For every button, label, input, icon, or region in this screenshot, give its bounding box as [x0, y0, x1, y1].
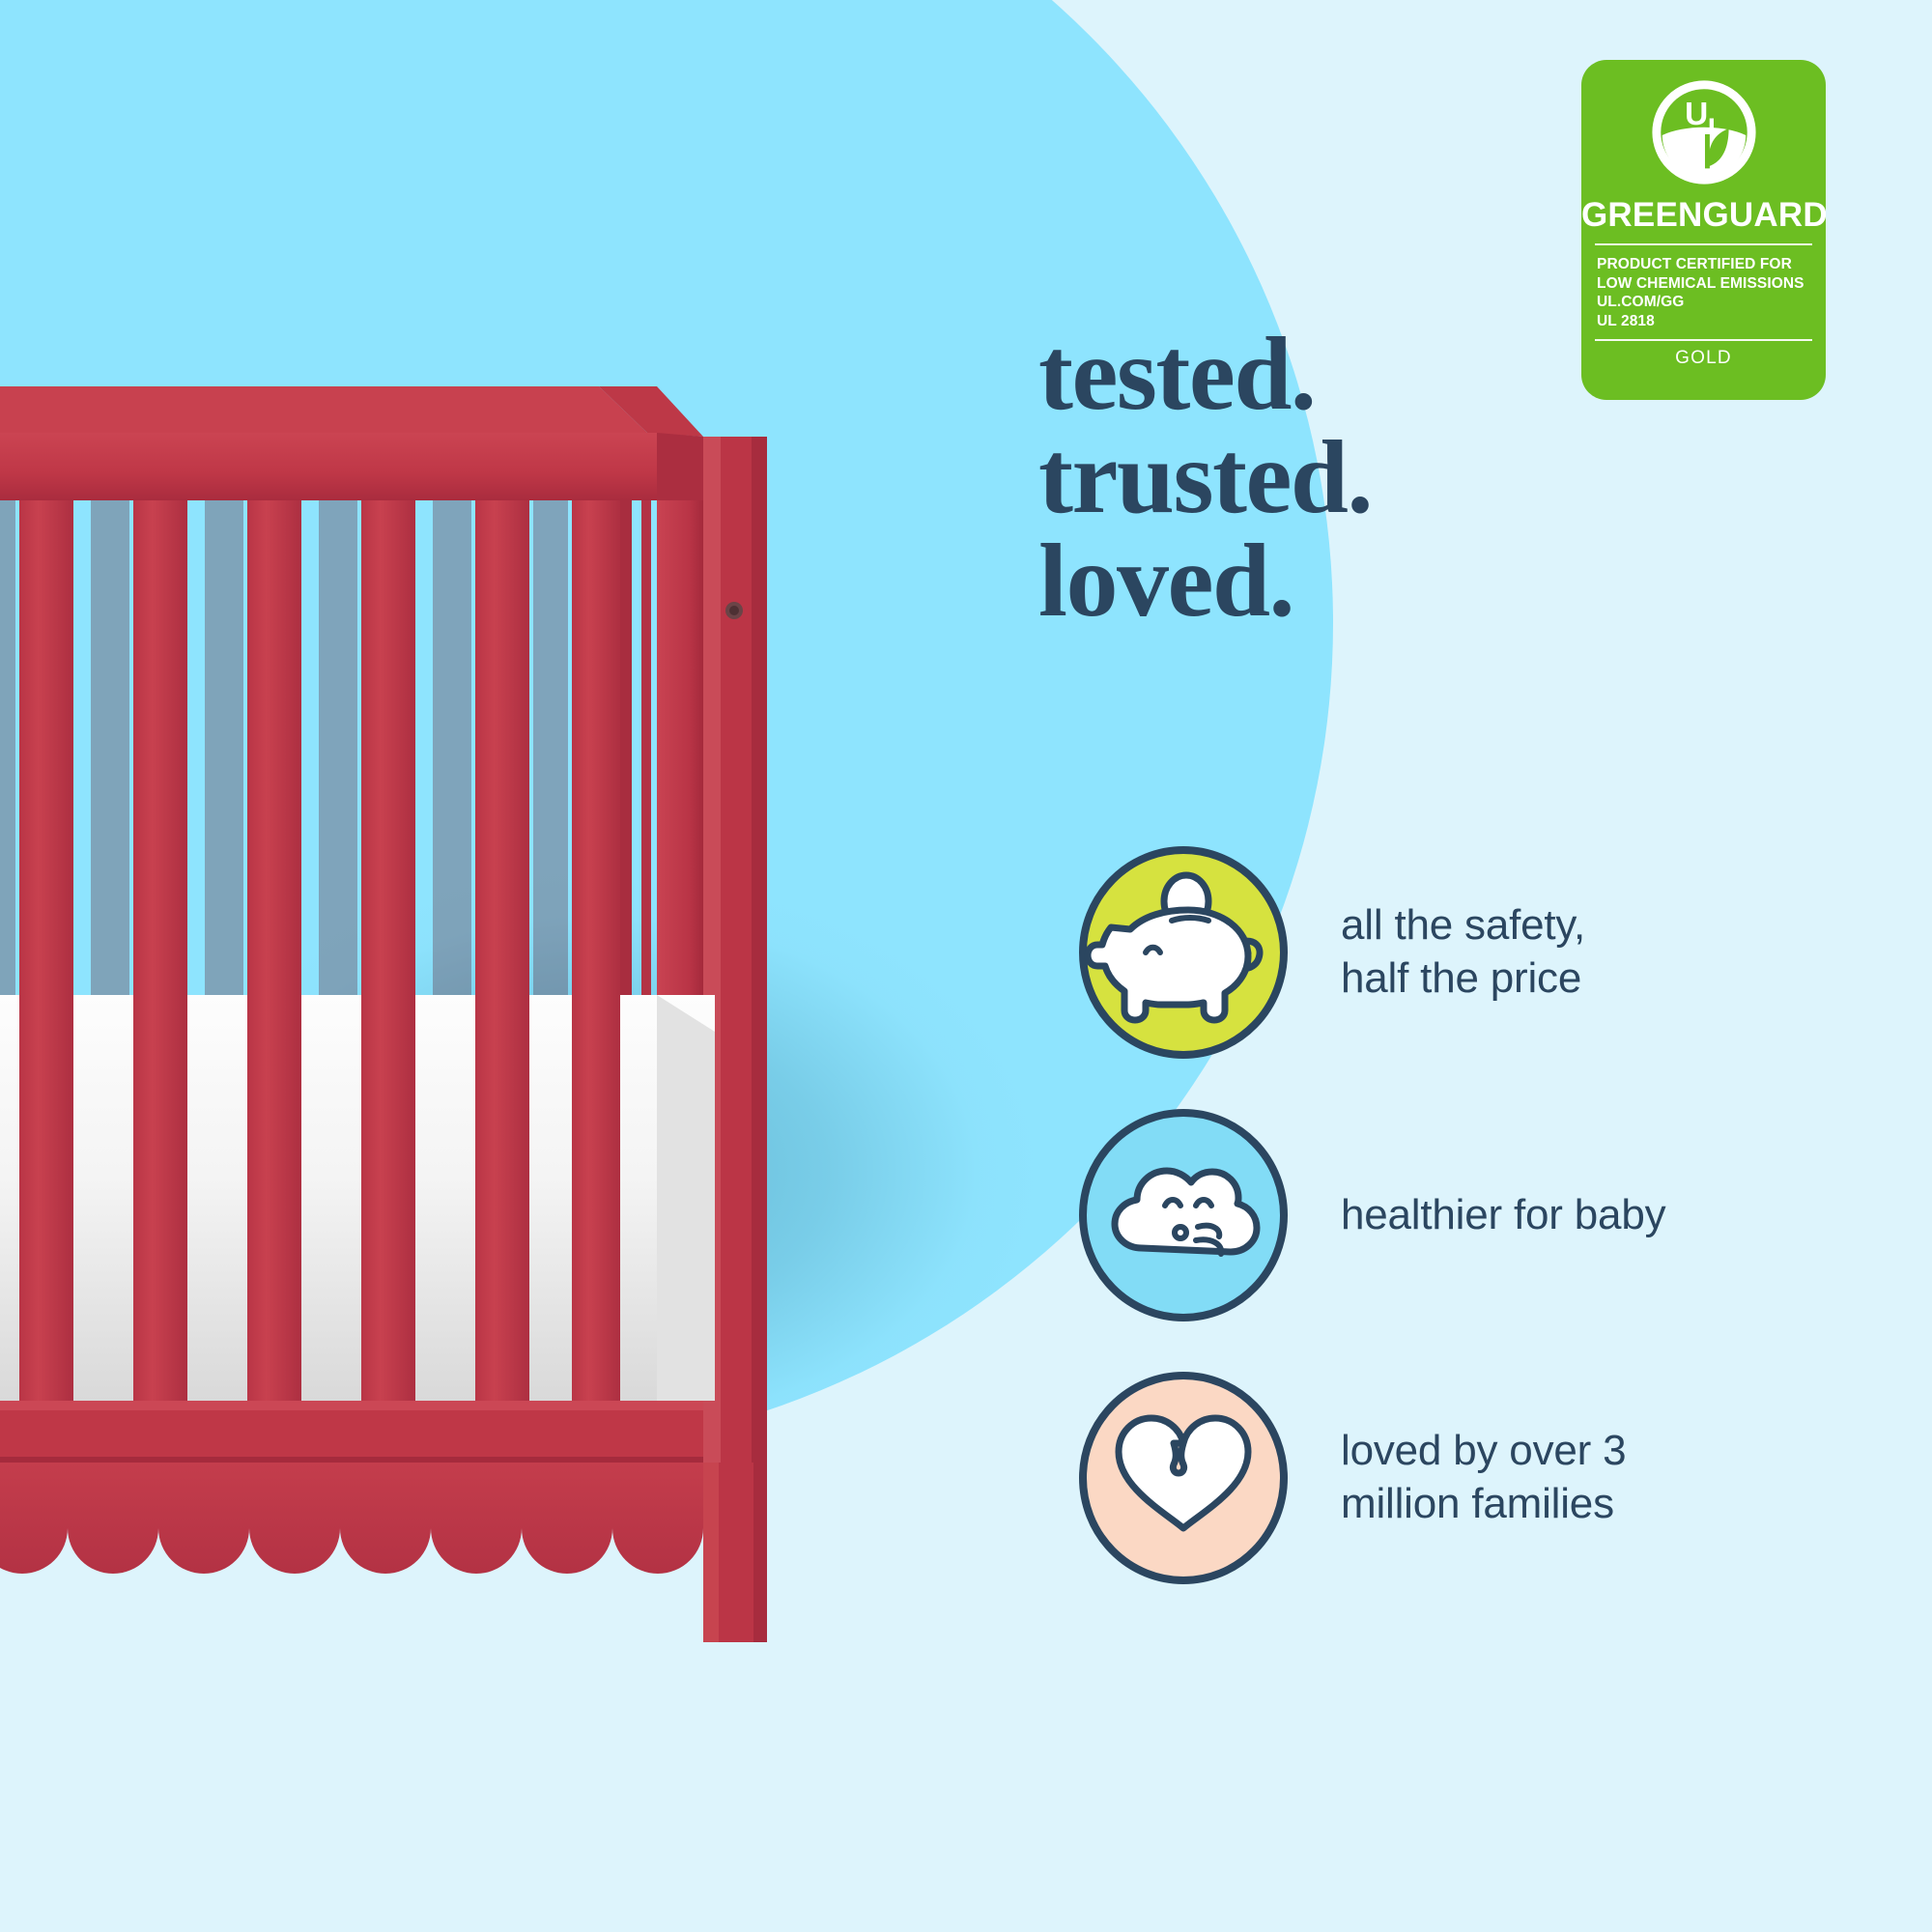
heart-icon [1072, 1366, 1294, 1590]
headline-line-tested: tested. [1038, 324, 1773, 427]
badge-divider-top [1595, 243, 1812, 245]
feature-label: loved by over 3 million families [1341, 1425, 1835, 1530]
headline-line-trusted: trusted. [1038, 427, 1773, 530]
ul-leaf-mark-icon: U L [1647, 75, 1761, 189]
headline-line-loved: loved. [1038, 530, 1773, 634]
list-item: healthier for baby [1072, 1101, 1835, 1329]
badge-body-line-2: LOW CHEMICAL EMISSIONS [1597, 274, 1826, 294]
feature-2-line-1: healthier for baby [1341, 1189, 1835, 1242]
feature-3-line-1: loved by over 3 [1341, 1425, 1835, 1478]
svg-text:U: U [1685, 97, 1708, 132]
promo-image-canvas: U L GREENGUARD PRODUCT CERTIFIED FOR LOW… [0, 0, 1932, 1932]
cloud-face-icon [1072, 1103, 1294, 1327]
crib-product-photo [0, 386, 860, 1642]
badge-body-line-3: UL.COM/GG [1597, 293, 1826, 312]
feature-list: all the safety, half the price [1072, 838, 1835, 1592]
feature-1-line-2: half the price [1341, 952, 1835, 1006]
list-item: all the safety, half the price [1072, 838, 1835, 1066]
feature-label: all the safety, half the price [1341, 899, 1835, 1005]
list-item: loved by over 3 million families [1072, 1364, 1835, 1592]
greenguard-body-text: PRODUCT CERTIFIED FOR LOW CHEMICAL EMISS… [1581, 255, 1826, 330]
greenguard-brand: GREENGUARD [1581, 198, 1826, 232]
page-title: tested. trusted. loved. [1038, 324, 1773, 634]
crib-scalloped-skirt [0, 1463, 703, 1575]
feature-3-line-2: million families [1341, 1478, 1835, 1531]
feature-1-line-1: all the safety, [1341, 899, 1835, 952]
piggy-bank-icon [1072, 840, 1294, 1065]
feature-label: healthier for baby [1341, 1189, 1835, 1242]
badge-body-line-1: PRODUCT CERTIFIED FOR [1597, 255, 1826, 274]
crib-illustration [0, 386, 860, 1642]
